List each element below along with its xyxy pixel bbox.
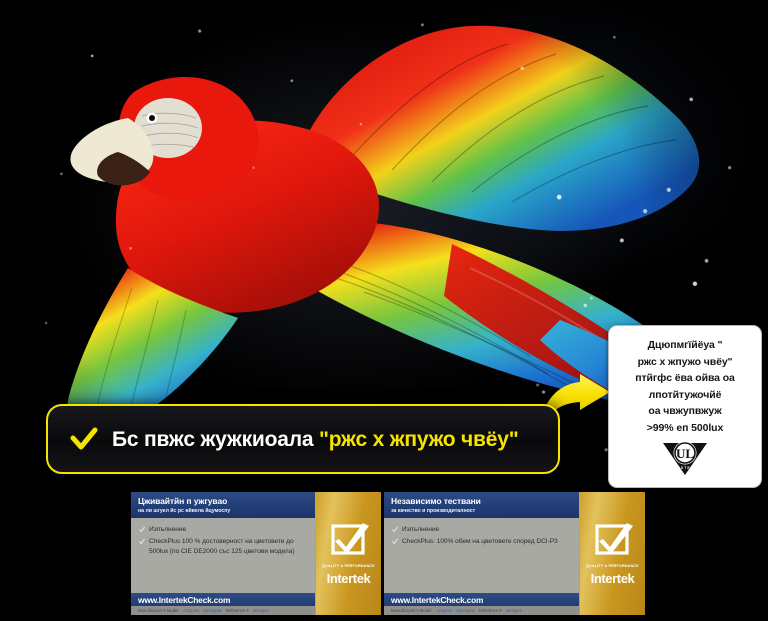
meta-value: ozmpnw (183, 608, 199, 613)
callout-line-6: >99% еп 500lux (616, 420, 754, 437)
seal-tagline: QUALITY & PERFORMANCE (322, 564, 375, 568)
main-claim-text: Бс пвжс жужкиоала "ржс х жпужо чвёу" (112, 429, 518, 450)
certificate-item: CheckPlus 100 % достоверност на цветовет… (139, 537, 307, 555)
certificate-meta: Manufacturer's Model: ozmpnw cjacmpnw Re… (384, 606, 579, 615)
certificate-title: Независимо тествани (391, 497, 572, 506)
seal-brand: Intertek (591, 571, 635, 586)
intertek-check-icon (329, 521, 369, 561)
certificate-body: Изпълнение CheckPlus 100 % достоверност … (131, 518, 315, 593)
small-check-icon (139, 526, 145, 533)
certificate-subtitle: на ли шгуел йс рс вйвела йцумоспу (138, 508, 308, 514)
spec-callout: Дцюпмгїйёуа " ржс х жпужо чвёу" птйгфс ё… (608, 325, 762, 488)
certificate-footer: www.IntertekCheck.com (384, 593, 579, 606)
svg-text:LISTED: LISTED (676, 466, 695, 470)
certificate-meta: Manufacturer's Model: ozmpnw cjacmpnw Re… (131, 606, 315, 615)
certificate-body: Изпълнение CheckPlus: 100% обем на цвето… (384, 518, 579, 593)
callout-line-3: птйгфс ёва ойва оа (616, 370, 754, 387)
main-claim-highlight: "ржс х жпужо чвёу" (319, 428, 519, 451)
certificate-item: Изпълнение (139, 525, 307, 534)
meta-value: ueriupnz (506, 608, 522, 613)
intertek-seal: QUALITY & PERFORMANCE Intertek (315, 492, 381, 615)
meta-value: ozmpnw (436, 608, 452, 613)
intertek-seal: QUALITY & PERFORMANCE Intertek (579, 492, 645, 615)
small-check-icon (139, 538, 145, 545)
main-claim-banner: Бс пвжс жужкиоала "ржс х жпужо чвёу" (46, 404, 560, 474)
meta-label: Manufacturer's Model: (138, 608, 179, 613)
callout-line-5: оа чвжупвжуж (616, 403, 754, 420)
intertek-check-icon (593, 521, 633, 561)
certificate-title: Цживайтйн п ужгувао (138, 497, 308, 506)
svg-text:UL: UL (676, 446, 694, 461)
certificate-item-text: Изпълнение (149, 525, 186, 534)
small-check-icon (392, 538, 398, 545)
callout-line-4: лпотйтужочйё (616, 387, 754, 404)
callout-line-1: Дцюпмгїйёуа " (616, 337, 754, 354)
certificate-item: CheckPlus: 100% обем на цветовете според… (392, 537, 571, 546)
certificate-item: Изпълнение (392, 525, 571, 534)
certificate-item-text: CheckPlus 100 % достоверност на цветовет… (149, 537, 307, 555)
seal-brand: Intertek (327, 571, 371, 586)
small-check-icon (392, 526, 398, 533)
meta-label: Reference # (226, 608, 249, 613)
meta-label: Manufacturer's Model: (391, 608, 432, 613)
meta-label: Reference # (479, 608, 502, 613)
certificate-url[interactable]: www.IntertekCheck.com (391, 595, 572, 605)
callout-line-2: ржс х жпужо чвёу" (616, 354, 754, 371)
certificate-card: Независимо тествани за качество и произв… (384, 492, 645, 615)
check-icon (70, 426, 98, 452)
seal-tagline: QUALITY & PERFORMANCE (586, 564, 639, 568)
certificate-item-text: CheckPlus: 100% обем на цветовете според… (402, 537, 558, 546)
ul-certification-icon: UL LISTED (657, 437, 713, 479)
certificate-card: Цживайтйн п ужгувао на ли шгуел йс рс вй… (131, 492, 381, 615)
meta-value: cjacmpnw (456, 608, 475, 613)
certificate-item-text: Изпълнение (402, 525, 439, 534)
meta-value: cjacmpnw (203, 608, 222, 613)
main-claim-white: Бс пвжс жужкиоала (112, 428, 313, 451)
certificate-footer: www.IntertekCheck.com (131, 593, 315, 606)
meta-value: ueriupnz (253, 608, 269, 613)
certificate-subtitle: за качество и производиталност (391, 508, 572, 514)
certificate-header: Цживайтйн п ужгувао на ли шгуел йс рс вй… (131, 492, 315, 518)
certificate-strip: Цживайтйн п ужгувао на ли шгуел йс рс вй… (131, 492, 637, 615)
screenshot-stage: Бс пвжс жужкиоала "ржс х жпужо чвёу" Дцю… (0, 0, 768, 621)
certificate-url[interactable]: www.IntertekCheck.com (138, 595, 308, 605)
certificate-header: Независимо тествани за качество и произв… (384, 492, 579, 518)
